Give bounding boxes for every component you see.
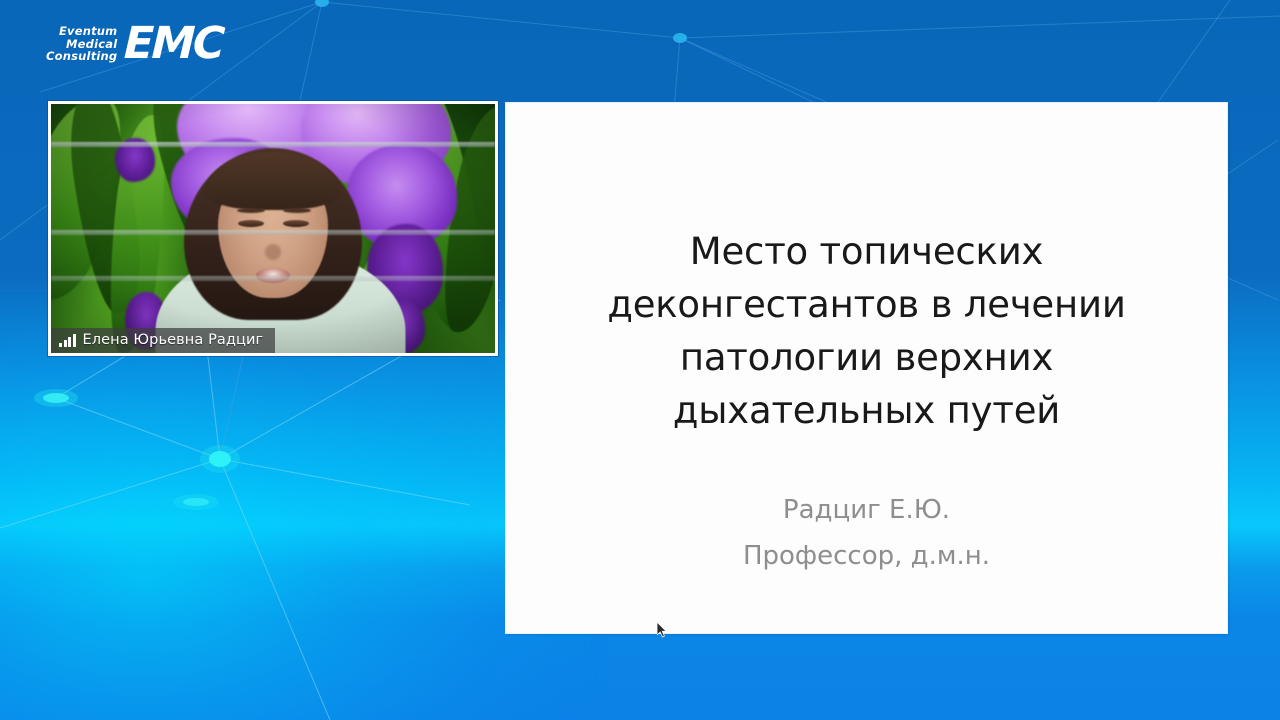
slide-title-line: Место топических [554,225,1179,278]
slide-subtitle-line: Профессор, д.м.н. [506,533,1227,579]
slide-title-line: деконгестантов в лечении [554,278,1179,331]
speaker-eye [283,220,309,227]
participant-name-label: Елена Юрьевна Радциг [83,332,264,348]
logo-monogram: EMC [124,22,224,66]
slide-title: Место топических деконгестантов в лечени… [506,225,1227,437]
webinar-screen: Eventum Medical Consulting EMC [0,0,1280,720]
speaker-brow [237,208,265,213]
logo-line-eventum: Eventum [59,25,117,37]
emc-logo: Eventum Medical Consulting EMC [46,22,223,66]
speaker-video-tile[interactable]: Елена Юрьевна Радциг [48,101,498,356]
slide-subtitle-line: Радциг Е.Ю. [506,487,1227,533]
participant-name-badge: Елена Юрьевна Радциг [51,328,275,353]
speaker-video-frame: Елена Юрьевна Радциг [51,104,495,353]
speaker-fringe [205,152,341,210]
speaker-nose [265,244,281,260]
slide-title-line: дыхательных путей [554,384,1179,437]
presentation-slide[interactable]: Место топических деконгестантов в лечени… [506,103,1227,633]
video-scanline [51,230,495,235]
slide-title-line: патологии верхних [554,331,1179,384]
signal-bars-icon [59,334,76,347]
slide-subtitle: Радциг Е.Ю. Профессор, д.м.н. [506,487,1227,579]
logo-line-consulting: Consulting [46,50,117,62]
speaker-eye [238,220,264,227]
speaker-brow [283,208,311,213]
logo-wordmark: Eventum Medical Consulting [46,25,117,62]
video-scanline [51,142,495,147]
video-scanline [51,276,495,281]
